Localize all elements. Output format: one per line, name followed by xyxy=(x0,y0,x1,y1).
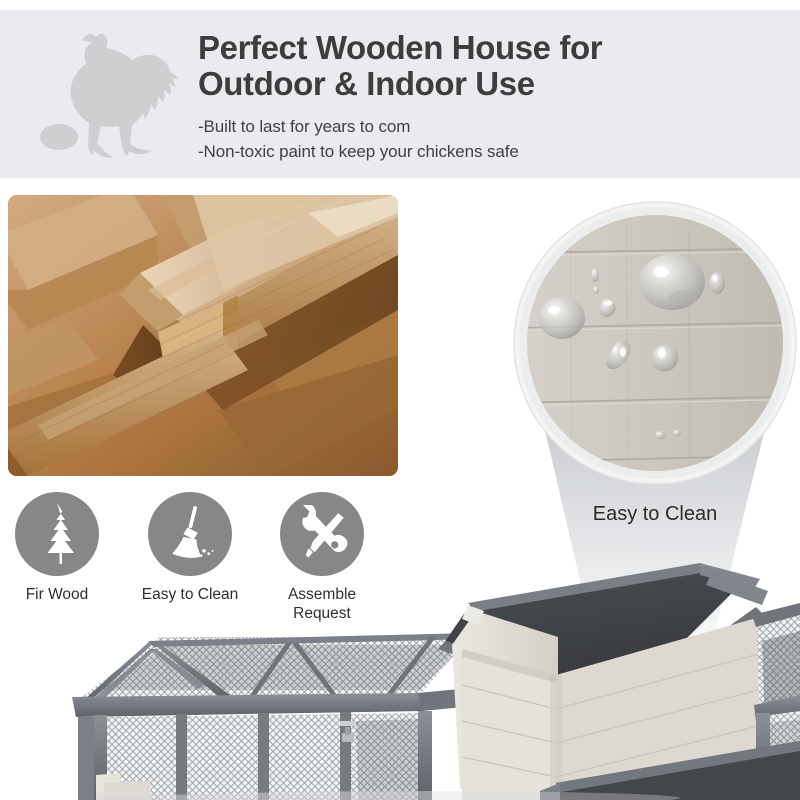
bullet-item-1: -Built to last for years to com xyxy=(198,114,788,139)
header-band: Perfect Wooden House for Outdoor & Indoo… xyxy=(0,10,800,178)
page-title: Perfect Wooden House for Outdoor & Indoo… xyxy=(198,30,788,102)
chicken-coop-photo xyxy=(0,545,800,800)
coop-run-left xyxy=(72,605,484,800)
egg-shape xyxy=(40,124,78,150)
callout-caption: Easy to Clean xyxy=(593,503,718,525)
header-text-block: Perfect Wooden House for Outdoor & Indoo… xyxy=(198,30,788,164)
chicken-silhouette-icon xyxy=(24,24,194,174)
lumber-photo xyxy=(8,195,398,476)
bullet-list: -Built to last for years to com -Non-tox… xyxy=(198,114,788,164)
product-marketing-image: Perfect Wooden House for Outdoor & Indoo… xyxy=(0,0,800,800)
bullet-item-2: -Non-toxic paint to keep your chickens s… xyxy=(198,139,788,164)
